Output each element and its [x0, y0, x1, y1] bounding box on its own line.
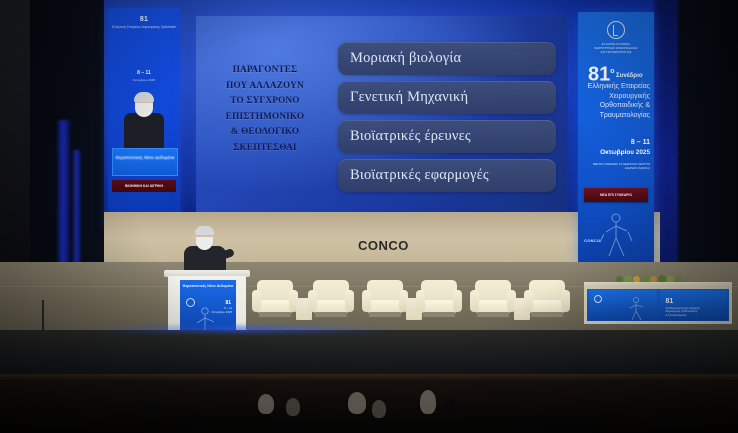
chair-base	[531, 312, 563, 317]
chair-arm-left	[308, 290, 317, 312]
main-projection-screen: ΠΑΡΑΓΟΝΤΕΣ ΠΟΥ ΑΛΛΑΖΟΥΝ ΤΟ ΣΥΓΧΡΟΝΟ ΕΠΙΣ…	[196, 16, 568, 212]
speaker-person	[178, 224, 234, 272]
society-emblem-icon	[607, 21, 625, 39]
congress-dates: 8 – 11 Οκτωβρίου 2025	[582, 138, 650, 158]
slide-bullet-item: Βιοϊατρικές εφαρμογές	[338, 159, 556, 192]
slide-bullet-item: Βιοϊατρικές έρευνες	[338, 120, 556, 153]
slide-bullet-list: Μοριακή βιολογία Γενετική Μηχανική Βιοϊα…	[338, 42, 556, 198]
congress-word: Συνέδριο	[616, 72, 643, 79]
conference-stage-photo: 81 Ελληνικής Εταιρείας Χειρουργικής Ορθο…	[0, 0, 738, 433]
slide-bullet-label: Βιοϊατρικές έρευνες	[338, 128, 471, 145]
left-banner-ribbon-label: ΒΙΟΗΘΙΚΗ ΚΑΙ ΙΑΤΡΙΚΗ	[112, 180, 176, 192]
slide-bullet-item: Γενετική Μηχανική	[338, 81, 556, 114]
slide-title-line: ΕΠΙΣΤΗΜΟΝΙΚΟ	[206, 109, 324, 125]
banner-ribbon: ΝΕΑ ΕΠΙ ΣΥΝΕΔΡΙΟ	[584, 188, 648, 202]
left-banner-podium-screen: Θεραπευτικές Νέου Δεδομένα	[112, 148, 178, 176]
audience-head	[286, 398, 300, 416]
panel-armchair	[362, 280, 408, 322]
audience-area	[0, 374, 738, 433]
left-banner-society: Ελληνικής Εταιρείας Χειρουργικής Ορθοπαι…	[112, 25, 176, 29]
chair-arm-left	[524, 290, 533, 312]
congress-venue: ΜΕΓΑΡΟ ΔΙΕΘΝΕΣ ΣΥΝΕΔΡΙΑΚΟ ΚΕΝΤΡΟ ΑΘΗΝΩΝ …	[582, 162, 650, 170]
panel-chairs-row	[252, 262, 578, 332]
slide-title-line: ΠΑΡΑΓΟΝΤΕΣ	[206, 62, 324, 78]
slide-bullet-item: Μοριακή βιολογία	[338, 42, 556, 75]
stage-edge-blue-glow	[90, 326, 390, 333]
panel-armchair	[308, 280, 354, 322]
speaker-hair	[195, 226, 214, 235]
congress-name-line: Τραυματολογίας	[582, 111, 650, 121]
left-projection-banner: 81 Ελληνικής Εταιρείας Χειρουργικής Ορθο…	[108, 8, 180, 230]
left-banner-header: 81 Ελληνικής Εταιρείας Χειρουργικής Ορθο…	[112, 16, 176, 29]
audience-head	[258, 394, 274, 414]
chair-base	[369, 312, 401, 317]
slide-title-line: & ΘΕΟΛΟΓΙΚΟ	[206, 124, 324, 140]
panel-armchair	[470, 280, 516, 322]
panel-armchair	[252, 280, 298, 322]
slide-bullet-label: Γενετική Μηχανική	[338, 89, 468, 106]
chair-base	[477, 312, 509, 317]
panel-armchair	[524, 280, 570, 322]
chair-base	[259, 312, 291, 317]
left-banner-caption: Θεραπευτικές Νέου Δεδομένα	[113, 155, 177, 161]
left-banner-date-month: Οκτωβρίου 2025	[108, 77, 180, 84]
audience-head	[444, 400, 458, 418]
slide-title-line: ΠΟΥ ΑΛΛΑΖΟΥΝ	[206, 78, 324, 94]
left-banner-ribbon: ΒΙΟΗΘΙΚΗ ΚΑΙ ΙΑΤΡΙΚΗ	[112, 180, 176, 192]
congress-number-ordinal: ο	[610, 68, 614, 75]
audience-head	[420, 390, 436, 414]
venue-line: ΑΘΗΝΩΝ (ΜΔΣΚΑ)	[582, 166, 650, 170]
chair-arm-left	[470, 290, 479, 312]
panel-armchair	[416, 280, 462, 322]
chair-arm-left	[362, 290, 371, 312]
banner-ribbon-label: ΝΕΑ ΕΠΙ ΣΥΝΕΔΡΙΟ	[584, 188, 648, 202]
chair-arm-left	[416, 290, 425, 312]
panel-table: 81 Συνέδριο Ελληνικής Εταιρείας Χειρουργ…	[584, 282, 732, 330]
chair-arm-right	[345, 290, 354, 312]
table-frame	[584, 286, 732, 324]
audience-head	[348, 392, 366, 414]
congress-name-line: Ορθοπαιδικής &	[582, 101, 650, 111]
chair-arm-right	[561, 290, 570, 312]
banner-sponsor-logo: CONCO	[584, 238, 600, 243]
slide-title-line: ΣΚΕΠΤΕΣΘΑΙ	[206, 140, 324, 156]
podium-caption: Θεραπευτικές Νέου Δεδομένα	[180, 284, 236, 289]
society-line: ΚΑΙ ΤΡΑΥΜΑΤΟΛΟΓΙΑΣ	[582, 50, 650, 54]
slide-bullet-label: Μοριακή βιολογία	[338, 50, 461, 67]
left-banner-number: 81	[112, 16, 176, 23]
audience-head	[372, 400, 386, 418]
congress-date-month: Οκτωβρίου 2025	[582, 148, 650, 158]
line-art-figure-icon	[596, 212, 636, 260]
stage-front-rail	[0, 374, 738, 380]
slide-title: ΠΑΡΑΓΟΝΤΕΣ ΠΟΥ ΑΛΛΑΖΟΥΝ ΤΟ ΣΥΓΧΡΟΝΟ ΕΠΙΣ…	[206, 62, 324, 155]
left-banner-date: 8 – 11 Οκτωβρίου 2025	[108, 70, 180, 84]
congress-name-line: Χειρουργικής	[582, 92, 650, 102]
chair-base	[423, 312, 455, 317]
speaker-hair	[134, 92, 154, 102]
chair-base	[315, 312, 347, 317]
slide-title-line: ΤΟ ΣΥΓΧΡΟΝΟ	[206, 93, 324, 109]
right-conference-banner: ΕΛΛΗΝΙΚΗ ΕΤΑΙΡΕΙΑ ΧΕΙΡΟΥΡΓΙΚΗΣ ΟΡΘΟΠΑΙΔΙ…	[578, 12, 654, 264]
chair-arm-left	[252, 290, 261, 312]
audience-head	[148, 404, 162, 422]
left-banner-date-range: 8 – 11	[137, 70, 151, 76]
venue-logo: CONCO	[358, 238, 409, 253]
left-banner-speaker-image	[122, 94, 166, 156]
congress-name: Ελληνικής Εταιρείας Χειρουργικής Ορθοπαι…	[582, 82, 650, 120]
left-wall-panel	[0, 0, 30, 300]
congress-name-line: Ελληνικής Εταιρείας	[582, 82, 650, 92]
chair-arm-right	[453, 290, 462, 312]
right-banner-society: ΕΛΛΗΝΙΚΗ ΕΤΑΙΡΕΙΑ ΧΕΙΡΟΥΡΓΙΚΗΣ ΟΡΘΟΠΑΙΔΙ…	[582, 42, 650, 54]
slide-bullet-label: Βιοϊατρικές εφαρμογές	[338, 167, 489, 184]
congress-date-range: 8 – 11	[582, 138, 650, 148]
